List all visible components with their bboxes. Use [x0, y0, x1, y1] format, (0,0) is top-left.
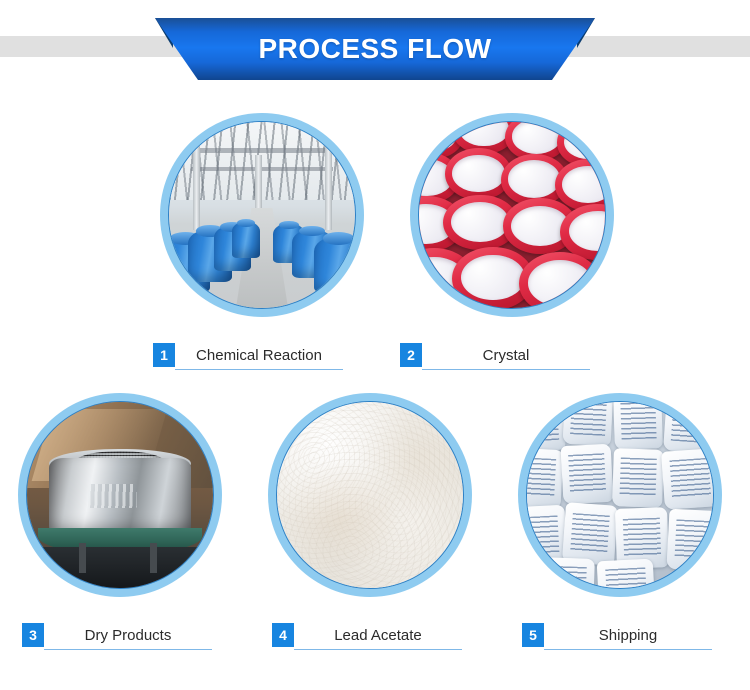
step-3-image: [18, 393, 222, 597]
step-3-label-row: 3 Dry Products: [22, 623, 212, 647]
step-3-badge: 3: [22, 623, 44, 647]
step-4-label-row: 4 Lead Acetate: [272, 623, 462, 647]
shipping-photo: [527, 402, 713, 588]
crystal-photo: [419, 122, 605, 308]
dry-products-photo: [27, 402, 213, 588]
step-4-underline: [294, 649, 462, 650]
lead-acetate-photo: [277, 402, 463, 588]
step-2-image: [410, 113, 614, 317]
step-4-image: [268, 393, 472, 597]
step-2-underline: [422, 369, 590, 370]
step-2-label: Crystal: [483, 347, 530, 364]
step-5-label-row: 5 Shipping: [522, 623, 712, 647]
step-5-label: Shipping: [599, 627, 657, 644]
header-ribbon: PROCESS FLOW: [155, 18, 595, 80]
step-1-badge: 1: [153, 343, 175, 367]
step-3-underline: [44, 649, 212, 650]
page-title: PROCESS FLOW: [155, 18, 595, 80]
step-1-label-row: 1 Chemical Reaction: [153, 343, 343, 367]
step-5-underline: [544, 649, 712, 650]
step-5-badge: 5: [522, 623, 544, 647]
chemical-reaction-photo: [169, 122, 355, 308]
step-5-image: [518, 393, 722, 597]
step-2-label-row: 2 Crystal: [400, 343, 590, 367]
step-2-badge: 2: [400, 343, 422, 367]
process-flow-page: PROCESS FLOW: [0, 0, 750, 690]
step-4-badge: 4: [272, 623, 294, 647]
step-1-underline: [175, 369, 343, 370]
step-4-label: Lead Acetate: [334, 627, 422, 644]
step-3-label: Dry Products: [85, 627, 172, 644]
step-1-label: Chemical Reaction: [196, 347, 322, 364]
step-1-image: [160, 113, 364, 317]
